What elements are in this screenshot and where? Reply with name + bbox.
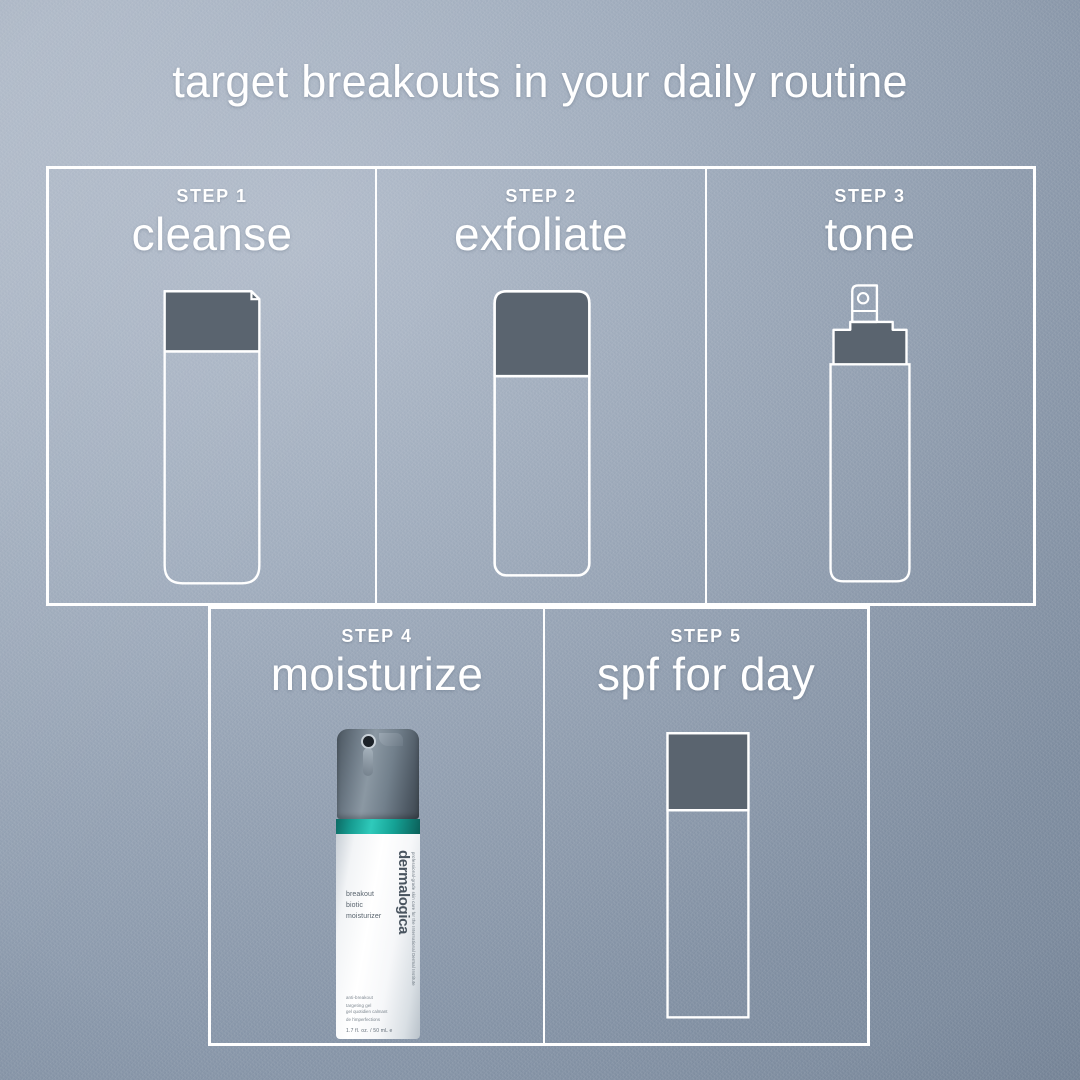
step-title: cleanse bbox=[49, 207, 375, 261]
product-brand-tagline: professional-grade skin care for the Int… bbox=[411, 852, 416, 986]
descriptor-line-3: gel quotidien calmant bbox=[346, 1008, 388, 1015]
step-card-tone[interactable]: STEP 3 tone bbox=[706, 166, 1036, 606]
step-kicker: STEP 5 bbox=[545, 626, 867, 647]
step-title: spf for day bbox=[545, 647, 867, 701]
product-body: dermalogica professional-grade skin care… bbox=[336, 834, 420, 1039]
step-card-spf[interactable]: STEP 5 spf for day bbox=[544, 606, 870, 1046]
step-kicker: STEP 3 bbox=[707, 186, 1033, 207]
product-name-line-3: moisturizer bbox=[346, 912, 381, 923]
product-brand-wordmark: dermalogica bbox=[395, 850, 412, 934]
descriptor-line-1: anti-breakout bbox=[346, 994, 373, 1001]
product-descriptor-en: anti-breakout targeting gel bbox=[346, 994, 373, 1009]
product-volume: 1.7 fl. oz. / 50 mL e bbox=[346, 1028, 393, 1034]
step-card-moisturize[interactable]: STEP 4 moisturize dermalogica profession… bbox=[208, 606, 544, 1046]
descriptor-line-4: de l'imperfections bbox=[346, 1016, 388, 1023]
product-descriptor-fr: gel quotidien calmant de l'imperfections bbox=[346, 1008, 388, 1023]
pump-cap bbox=[337, 729, 419, 819]
step-title: tone bbox=[707, 207, 1033, 261]
step-title: exfoliate bbox=[377, 207, 705, 261]
teal-accent-band bbox=[336, 819, 420, 834]
product-name-line-1: breakout bbox=[346, 890, 381, 901]
cap-notch bbox=[379, 733, 403, 746]
product-name: breakout biotic moisturizer bbox=[346, 890, 381, 923]
step-card-exfoliate[interactable]: STEP 2 exfoliate bbox=[376, 166, 706, 606]
step-kicker: STEP 1 bbox=[49, 186, 375, 207]
step-kicker: STEP 4 bbox=[211, 626, 543, 647]
cap-slot bbox=[363, 748, 373, 776]
step-title: moisturize bbox=[211, 647, 543, 701]
product-name-line-2: biotic bbox=[346, 901, 381, 912]
page-title: target breakouts in your daily routine bbox=[0, 56, 1080, 108]
step-card-cleanse[interactable]: STEP 1 cleanse bbox=[46, 166, 376, 606]
step-kicker: STEP 2 bbox=[377, 186, 705, 207]
dermalogica-product-photo[interactable]: dermalogica professional-grade skin care… bbox=[325, 729, 431, 1039]
pump-nozzle-dot-icon bbox=[363, 736, 374, 747]
